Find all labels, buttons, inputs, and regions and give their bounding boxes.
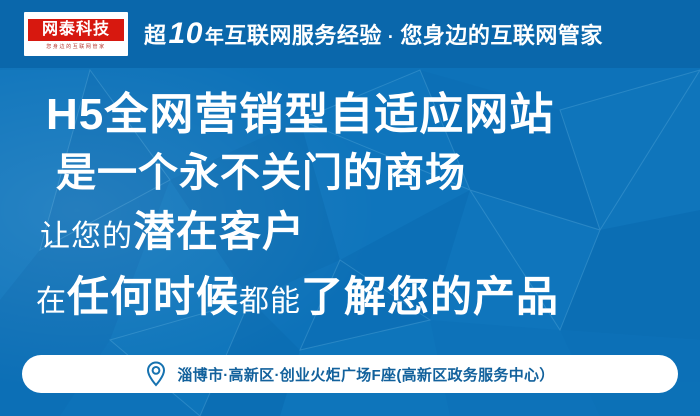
- headline-block: H5全网营销型自适应网站 是一个永不关门的商场 让您的 潜在客户 在 任何时候 …: [46, 86, 686, 332]
- headline-line-4-bold-1: 任何时候: [67, 267, 239, 327]
- tagline-separator: ·: [382, 27, 401, 48]
- tagline-prefix: 超: [144, 18, 167, 50]
- headline-line-3: 让您的 潜在客户: [40, 202, 686, 267]
- location-pin-icon: [145, 361, 167, 387]
- company-logo: 网泰科技 您身边的互联网管家: [24, 12, 128, 56]
- headline-line-3-light: 让您的: [40, 207, 133, 267]
- address-text: 淄博市·高新区·创业火炬广场F座(高新区政务服务中心）: [177, 364, 554, 385]
- tagline-middle: 互联网服务经验: [224, 18, 382, 50]
- logo-wordmark: 网泰科技: [28, 19, 124, 41]
- headline-line-4-bold-2: 了解您的产品: [301, 267, 559, 327]
- promo-banner: 网泰科技 您身边的互联网管家 超 10 年 互联网服务经验 · 您身边的互联网管…: [0, 0, 700, 416]
- headline-line-4-light-2: 都能: [239, 272, 301, 332]
- tagline-years-unit: 年: [205, 22, 225, 49]
- header-tagline: 超 10 年 互联网服务经验 · 您身边的互联网管家: [144, 18, 603, 50]
- tagline-years-number: 10: [167, 19, 205, 49]
- headline-line-2: 是一个永不关门的商场: [56, 144, 686, 202]
- headline-line-4-light-1: 在: [36, 272, 67, 332]
- tagline-suffix: 您身边的互联网管家: [400, 18, 603, 50]
- banner-header: 网泰科技 您身边的互联网管家 超 10 年 互联网服务经验 · 您身边的互联网管…: [0, 0, 700, 68]
- address-bar: 淄博市·高新区·创业火炬广场F座(高新区政务服务中心）: [22, 355, 678, 393]
- headline-line-1: H5全网营销型自适应网站: [46, 86, 686, 144]
- headline-line-3-bold: 潜在客户: [133, 202, 305, 262]
- headline-line-4: 在 任何时候 都能 了解您的产品: [36, 267, 686, 332]
- logo-subtitle: 您身边的互联网管家: [28, 43, 124, 50]
